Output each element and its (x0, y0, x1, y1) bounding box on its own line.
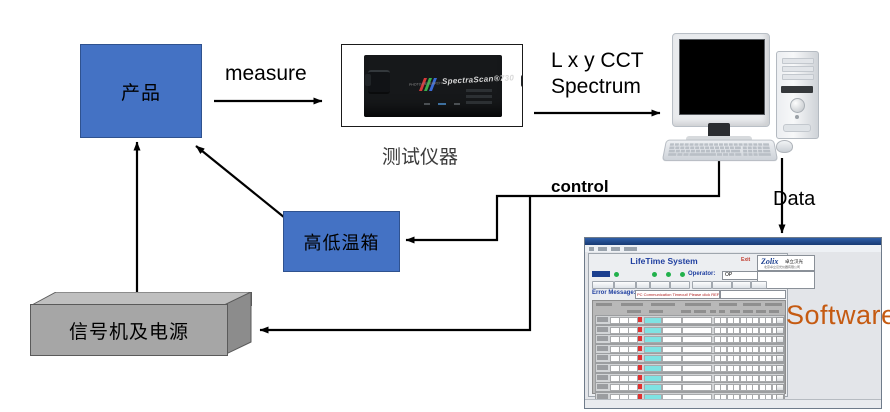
menu-item[interactable] (598, 247, 607, 251)
diagram-canvas: 产品 measure PHOTO RESEARCH SpectraScan®73… (0, 0, 890, 412)
wire-chamber-to-product (196, 146, 290, 222)
grid-status-indicator (638, 317, 642, 322)
toolbar-button[interactable] (751, 281, 767, 289)
instrument-brand-text: SpectraScan®730 (442, 73, 515, 86)
grid-row-action-button[interactable] (776, 336, 784, 343)
operator-input[interactable]: OP (722, 271, 758, 280)
grid-status-indicator (638, 365, 642, 370)
grid-row[interactable] (595, 344, 785, 354)
grid-cell-input[interactable] (628, 384, 638, 391)
grid-col-group (685, 303, 711, 306)
menu-item[interactable] (611, 247, 620, 251)
grid-row[interactable] (595, 373, 785, 383)
status-led-icon (680, 272, 685, 277)
grid-row-label (597, 346, 608, 351)
grid-status-indicator (638, 355, 642, 360)
measurement-grid[interactable] (592, 300, 786, 394)
grid-col-group (765, 303, 782, 306)
grid-cell-input[interactable] (662, 317, 682, 324)
grid-cell-input[interactable] (662, 355, 682, 362)
grid-row-label (597, 355, 608, 360)
box-chamber-label: 高低温箱 (304, 229, 380, 255)
label-control: control (551, 177, 609, 197)
grid-cell-input[interactable] (628, 327, 638, 334)
brand-name: SpectraScan (442, 74, 494, 86)
monitor-screen (679, 39, 765, 115)
grid-row-action-button[interactable] (776, 317, 784, 324)
grid-row[interactable] (595, 315, 785, 325)
grid-row-action-button[interactable] (776, 375, 784, 382)
status-led-icon (652, 272, 657, 277)
keyboard (662, 140, 778, 162)
grid-subcol (719, 310, 725, 313)
grid-header-groups (593, 302, 785, 308)
toolbar (592, 281, 754, 288)
grid-cell-highlight[interactable] (644, 336, 662, 343)
status-led-icon (614, 272, 619, 277)
grid-row[interactable] (595, 325, 785, 335)
power-button-icon (790, 98, 805, 113)
grid-subcol (627, 310, 641, 313)
grid-cell-highlight[interactable] (644, 355, 662, 362)
grid-status-indicator (638, 336, 642, 341)
monitor (672, 33, 770, 127)
computer-tower (776, 51, 819, 139)
grid-col-group (651, 303, 675, 306)
grid-row[interactable] (595, 382, 785, 392)
toolbar-button[interactable] (732, 281, 751, 289)
grid-cell-input[interactable] (628, 365, 638, 372)
grid-col-group (719, 303, 737, 306)
vent-slot (466, 101, 492, 104)
front-port-panel (783, 124, 811, 132)
grid-row-label (597, 336, 608, 341)
label-measure: measure (225, 62, 307, 86)
grid-cell-input[interactable] (662, 365, 682, 372)
box-3d-front-face: 信号机及电源 (30, 304, 228, 356)
grid-row-action-button[interactable] (776, 365, 784, 372)
grid-cell-input[interactable] (682, 336, 712, 343)
grid-subcol (710, 310, 716, 313)
toolbar-button[interactable] (592, 281, 614, 289)
grid-cell-input[interactable] (662, 346, 682, 353)
grid-cell-input[interactable] (628, 355, 638, 362)
toolbar-button[interactable] (636, 281, 650, 289)
grid-row-label (597, 317, 608, 322)
computer-photo (664, 33, 819, 158)
status-led-icon (795, 115, 799, 119)
tower-bay (782, 58, 814, 64)
grid-cell-highlight[interactable] (644, 384, 662, 391)
grid-cell-input[interactable] (628, 346, 638, 353)
label-data: Data (773, 188, 815, 211)
label-instrument-caption: 测试仪器 (382, 142, 458, 169)
label-lxy-cct-spectrum: L x y CCT Spectrum (551, 48, 644, 100)
grid-row-label (597, 327, 608, 332)
label-software: Software (786, 300, 890, 331)
grid-row-label (597, 365, 608, 370)
error-filter-dropdown[interactable] (720, 290, 786, 299)
grid-cell-highlight[interactable] (644, 365, 662, 372)
grid-status-indicator (638, 384, 642, 389)
box-signal-label: 信号机及电源 (69, 317, 189, 344)
grid-col-group (743, 303, 761, 306)
exit-button[interactable]: Exit (741, 257, 750, 263)
grid-status-indicator (638, 375, 642, 380)
keyboard-keys-icon (668, 143, 773, 157)
status-badge (592, 271, 610, 277)
grid-subcol (769, 310, 779, 313)
grid-cell-input[interactable] (682, 365, 712, 372)
grid-header-subs (593, 309, 785, 314)
grid-cell-input[interactable] (662, 384, 682, 391)
grid-cell-input[interactable] (662, 375, 682, 382)
grid-subcol (743, 310, 753, 313)
grid-row[interactable] (595, 334, 785, 344)
toolbar-button[interactable] (614, 281, 636, 289)
grid-row-action-button[interactable] (776, 327, 784, 334)
instrument-photo: PHOTO RESEARCH SpectraScan®730 (341, 44, 523, 127)
window-titlebar (585, 238, 881, 245)
wire-control (406, 158, 719, 240)
grid-cell-highlight[interactable] (644, 346, 662, 353)
grid-cell-input[interactable] (682, 327, 712, 334)
grid-row-action-button[interactable] (776, 384, 784, 391)
grid-cell-highlight[interactable] (644, 375, 662, 382)
grid-row-action-button[interactable] (776, 346, 784, 353)
grid-subcol (730, 310, 740, 313)
grid-cell-input[interactable] (662, 336, 682, 343)
grid-subcol (649, 310, 663, 313)
menu-item[interactable] (589, 247, 594, 251)
lens-icon (368, 70, 390, 94)
lens-hood-icon (365, 74, 371, 86)
menu-item[interactable] (624, 247, 637, 251)
grid-col-group (621, 303, 643, 306)
toolbar-button[interactable] (670, 281, 690, 289)
grid-status-indicator (638, 346, 642, 351)
box-temperature-chamber[interactable]: 高低温箱 (283, 211, 400, 272)
app-title: LifeTime System (589, 256, 739, 266)
grid-cell-input[interactable] (682, 346, 712, 353)
tower-bay (782, 66, 814, 72)
grid-subcol (756, 310, 766, 313)
spectrometer-body: PHOTO RESEARCH SpectraScan®730 (364, 55, 502, 117)
grid-row-label (597, 384, 608, 389)
grid-cell-input[interactable] (628, 375, 638, 382)
grid-cell-input[interactable] (682, 384, 712, 391)
grid-row-label (597, 375, 608, 380)
indicator-dots-icon (424, 103, 468, 106)
grid-col-group (596, 303, 612, 306)
rear-port (521, 75, 523, 87)
error-message-value: PC Communication Timeout! Please click R… (635, 290, 720, 299)
vendor-logo: Zolix 卓立汉光 北京卓立汉光仪器有限公司 (757, 255, 815, 271)
mouse (776, 140, 793, 153)
vent-slot (466, 95, 492, 98)
grid-row[interactable] (595, 353, 785, 363)
grid-row-action-button[interactable] (776, 355, 784, 362)
vendor-logo-subtitle: 北京卓立汉光仪器有限公司 (764, 265, 800, 269)
box-product[interactable]: 产品 (80, 44, 202, 138)
grid-row[interactable] (595, 363, 785, 373)
grid-subcol (694, 310, 706, 313)
grid-cell-input[interactable] (662, 327, 682, 334)
box-3d-side-face (224, 292, 252, 356)
vent-slot (466, 89, 492, 92)
grid-cell-highlight[interactable] (644, 317, 662, 324)
box-product-label: 产品 (121, 78, 161, 105)
optical-drive (781, 86, 813, 93)
tower-bay (782, 74, 814, 80)
app-main-panel: LifeTime System Exit Zolix 卓立汉光 北京卓立汉光仪器… (588, 253, 788, 397)
grid-cell-input[interactable] (682, 355, 712, 362)
operator-label: Operator: (688, 271, 715, 277)
status-led-icon (666, 272, 671, 277)
grid-cell-input[interactable] (682, 375, 712, 382)
grid-cell-input[interactable] (628, 317, 638, 324)
box-signal-source[interactable]: 信号机及电源 (30, 292, 252, 356)
grid-status-indicator (638, 327, 642, 332)
error-message-label: Error Message: (592, 290, 636, 296)
grid-cell-highlight[interactable] (644, 327, 662, 334)
toolbar-button[interactable] (692, 281, 712, 289)
grid-cell-input[interactable] (628, 336, 638, 343)
grid-subcol (681, 310, 691, 313)
brand-model: ®730 (493, 73, 514, 83)
window-statusbar (585, 399, 881, 408)
status-row: Operator: OP (592, 271, 754, 279)
toolbar-button[interactable] (650, 281, 670, 289)
grid-cell-input[interactable] (682, 317, 712, 324)
toolbar-button[interactable] (712, 281, 732, 289)
